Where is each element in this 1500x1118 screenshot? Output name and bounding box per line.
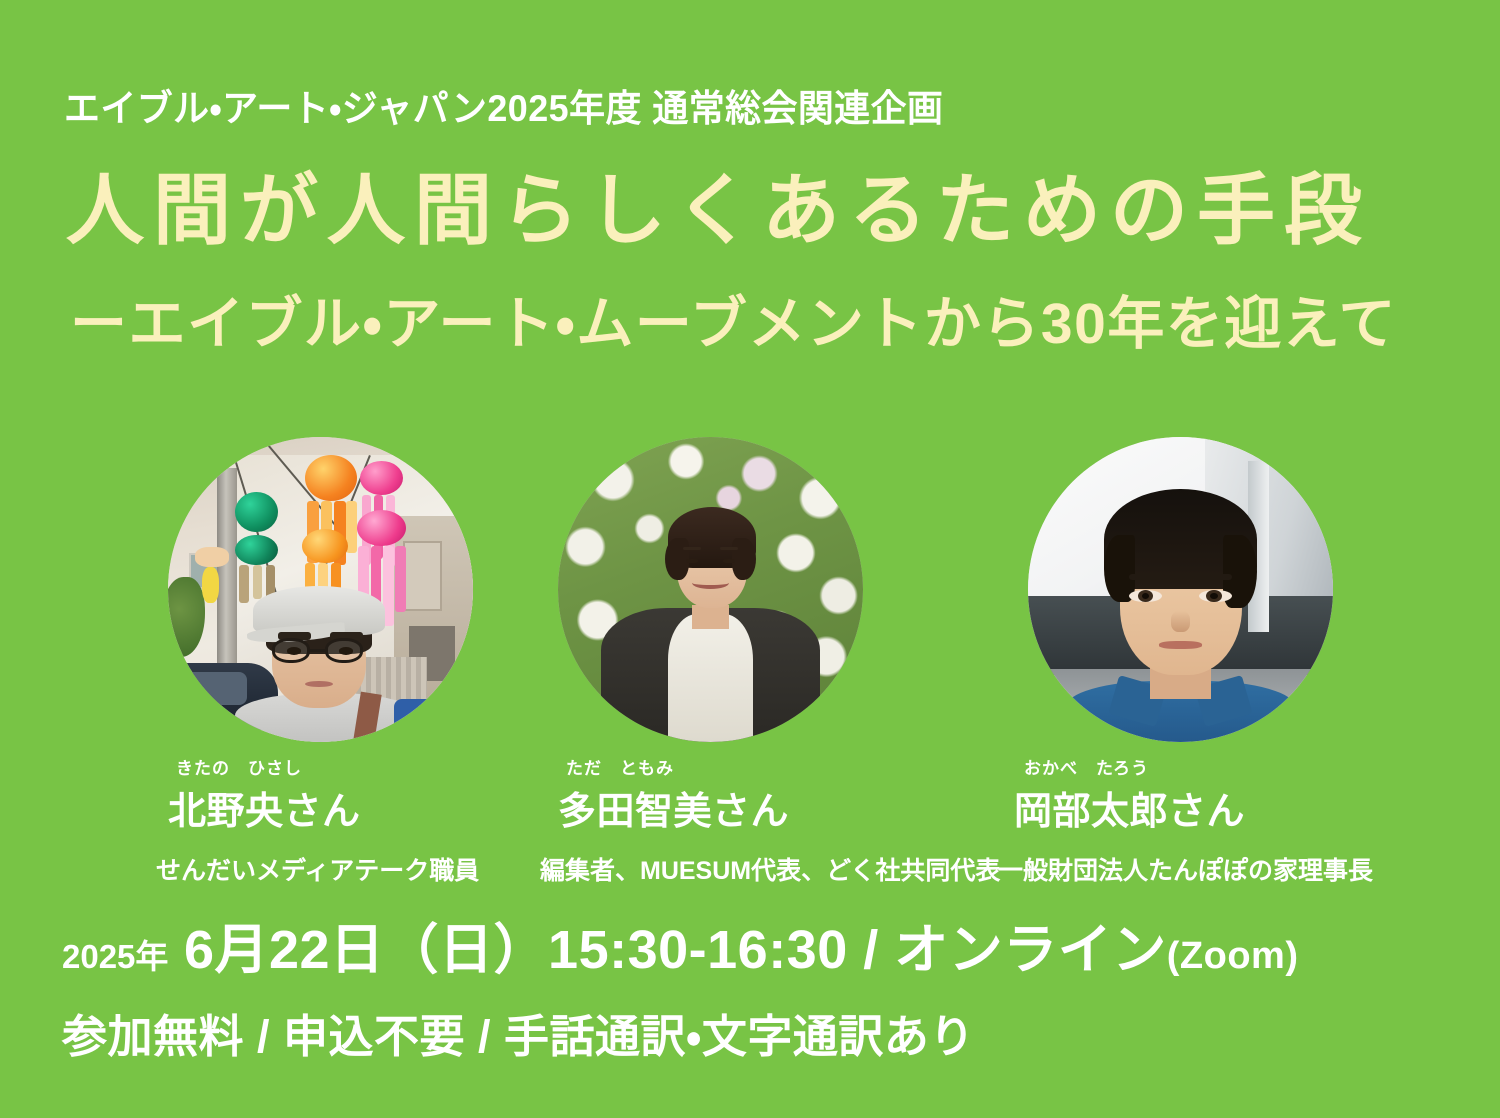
page-title: 人間が人間らしくあるための手段	[66, 170, 1371, 252]
white-blouse	[668, 614, 753, 742]
blue-bag	[394, 699, 431, 742]
speaker-furigana-3: おかべ たろう	[1024, 754, 1333, 779]
eyebrow-right	[720, 547, 738, 550]
nose	[1171, 611, 1189, 632]
mouth	[305, 681, 332, 687]
tanabata-yellow	[195, 547, 229, 605]
schedule-year: 2025年	[62, 938, 168, 975]
eyebrow-right	[1196, 574, 1233, 580]
eyebrow-left	[1129, 574, 1166, 580]
window-right	[403, 541, 443, 611]
photo-rose-garden	[558, 437, 863, 742]
schedule-venue: (Zoom)	[1167, 935, 1299, 977]
speaker-card-1: ゲスト きたの ひさし 北野央さん せんだいメディアテーク職員	[168, 437, 473, 887]
event-poster: エイブル・アート・ジャパン2025年度 通常総会関連企画 人間が人間らしくあるた…	[0, 0, 1500, 1118]
mouth	[1159, 641, 1202, 649]
admission-notes: 参加無料 / 申込不要 / 手話通訳・文字通訳あり	[62, 1000, 975, 1065]
speaker-affiliation-3: 一般財団法人たんぽぽの家理事長	[998, 851, 1333, 887]
eye-right	[723, 559, 735, 563]
speaker-photo-3: ファシリテーター	[1028, 437, 1333, 742]
speaker-affiliation-1: せんだいメディアテーク職員	[156, 851, 473, 887]
speaker-card-3: ファシリテーター おかべ たろう 岡部太郎さん 一般財団法人たんぽぽの家理事長	[1028, 437, 1333, 887]
speaker-name-1: 北野央さん	[168, 780, 473, 835]
speaker-name-3: 岡部太郎さん	[1014, 780, 1333, 835]
speaker-photo-2: ゲスト	[558, 437, 863, 742]
pupil-right	[1210, 593, 1217, 599]
page-subtitle: ーエイブル・アート・ムーブメントから30年を迎えて	[70, 295, 1397, 355]
hair-side-left	[1104, 535, 1135, 602]
eyebrow-text: エイブル・アート・ジャパン2025年度 通常総会関連企画	[64, 78, 943, 132]
car-window	[180, 672, 247, 706]
neck	[692, 605, 729, 629]
speaker-furigana-2: ただ ともみ	[566, 754, 863, 779]
speaker-affiliation-2: 編集者、MUESUM代表、どく社共同代表	[540, 851, 863, 887]
eye-left	[686, 559, 698, 563]
speaker-name-2: 多田智美さん	[558, 780, 863, 835]
photo-portrait-denim	[1028, 437, 1333, 742]
eye-right	[339, 647, 353, 654]
eyebrow-left	[683, 547, 701, 550]
eye-left	[287, 647, 301, 654]
speaker-furigana-1: きたの ひさし	[176, 754, 473, 779]
speaker-photo-1: ゲスト	[168, 437, 473, 742]
photo-street-tanabata	[168, 437, 473, 742]
schedule-line: 2025年 6月22日（日）15:30-16:30 / オンライン(Zoom)	[62, 905, 1298, 984]
schedule-date-time: 6月22日（日）15:30-16:30 / オンライン	[184, 920, 1167, 980]
speaker-card-2: ゲスト ただ ともみ 多田智美さん 編集者、MUESUM代表、どく社共同代表	[558, 437, 863, 887]
tanabata-green-1	[235, 492, 278, 532]
